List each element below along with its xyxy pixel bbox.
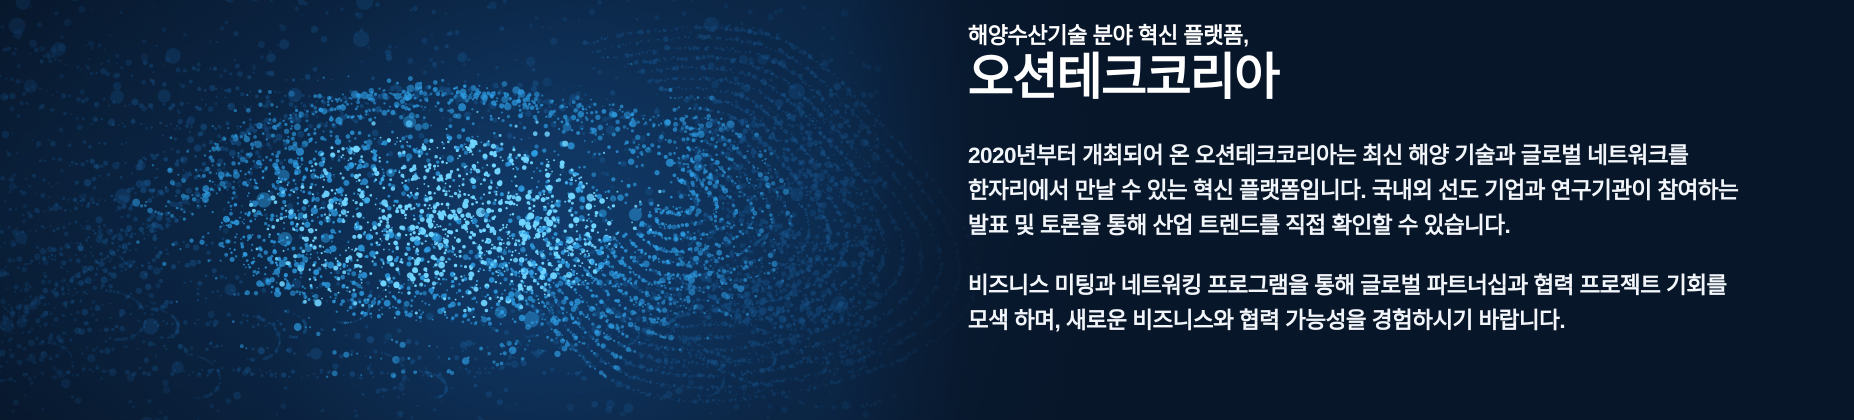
hero-banner: 해양수산기술 분야 혁신 플랫폼, 오션테크코리아 2020년부터 개최되어 온… [0,0,1854,420]
paragraph-line: 2020년부터 개최되어 온 오션테크코리아는 최신 해양 기술과 글로벌 네트… [968,138,1848,173]
hero-kicker: 해양수산기술 분야 혁신 플랫폼, [968,18,1249,50]
page-title: 오션테크코리아 [968,48,1279,106]
hero-paragraph-1: 2020년부터 개최되어 온 오션테크코리아는 최신 해양 기술과 글로벌 네트… [968,138,1848,243]
hero-text-column: 해양수산기술 분야 혁신 플랫폼, 오션테크코리아 2020년부터 개최되어 온… [968,0,1848,420]
paragraph-line: 발표 및 토론을 통해 산업 트렌드를 직접 확인할 수 있습니다. [968,208,1848,243]
paragraph-line: 모색 하며, 새로운 비즈니스와 협력 가능성을 경험하시기 바랍니다. [968,303,1848,338]
paragraph-line: 한자리에서 만날 수 있는 혁신 플랫폼입니다. 국내외 선도 기업과 연구기관… [968,173,1848,208]
paragraph-line: 비즈니스 미팅과 네트워킹 프로그램을 통해 글로벌 파트너십과 협력 프로젝트… [968,268,1848,303]
hero-paragraph-2: 비즈니스 미팅과 네트워킹 프로그램을 통해 글로벌 파트너십과 협력 프로젝트… [968,268,1848,338]
